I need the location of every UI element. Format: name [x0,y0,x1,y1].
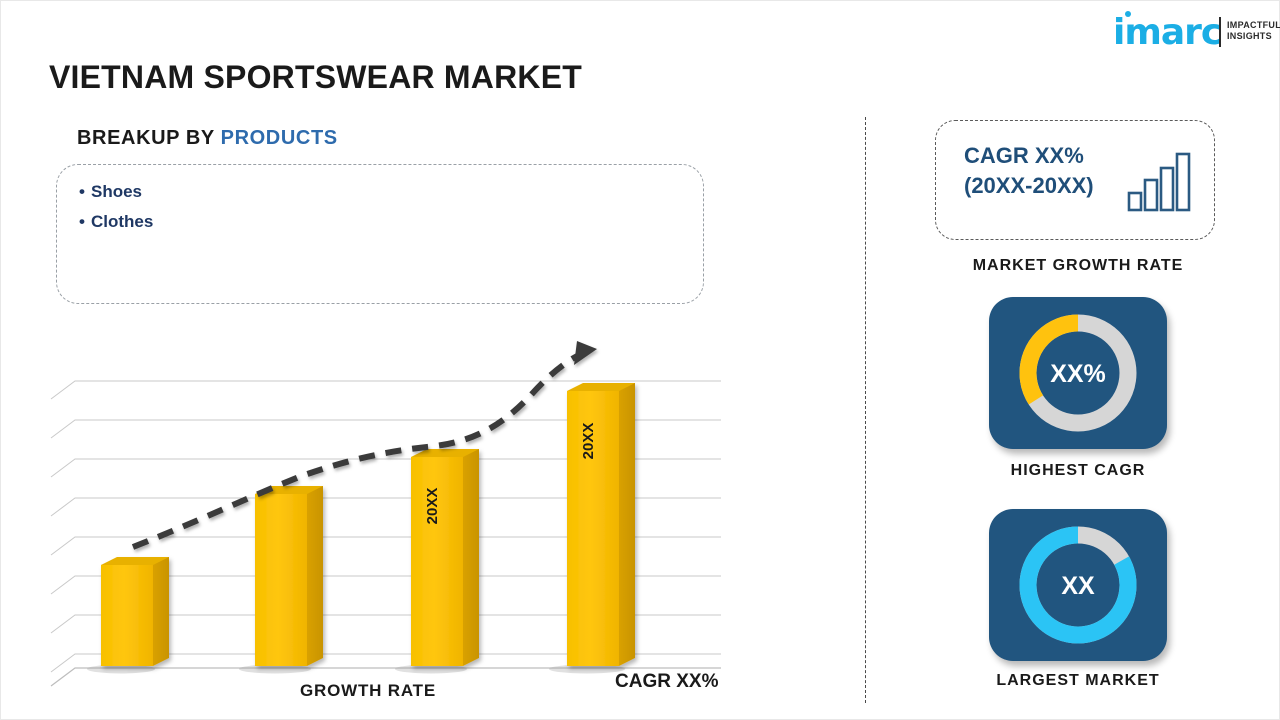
chart-canvas: 20XX 20XX [49,331,769,711]
highest-cagr-value: XX% [1050,360,1106,388]
bar-chart-icon [1127,151,1195,213]
logo-divider [1219,17,1221,47]
logo-tagline-line1: IMPACTFUL [1227,20,1280,31]
market-growth-rate-value: CAGR XX% (20XX-20XX) [964,141,1094,201]
highest-cagr-caption: HIGHEST CAGR [933,462,1223,480]
page-title: VIETNAM SPORTSWEAR MARKET [49,59,582,96]
growth-rate-bar-chart: 20XX 20XX CAGR XX% [49,331,769,711]
breakup-list: •Shoes •Clothes [79,177,153,237]
subtitle-prefix: BREAKUP BY [77,127,221,149]
vertical-divider [865,117,866,703]
cagr-line-1: CAGR XX% [964,141,1094,171]
logo-tagline-line2: INSIGHTS [1227,31,1280,42]
highest-cagr-tile: XX% [989,297,1167,449]
largest-market-tile: XX [989,509,1167,661]
bullet-icon: • [79,177,91,207]
infographic-page: imarc IMPACTFUL INSIGHTS VIETNAM SPORTSW… [1,1,1279,719]
chart-cagr-annotation: CAGR XX% [615,671,718,693]
bar-3-label: 20XX [424,488,441,525]
logo-wordmark: imarc [1113,15,1221,51]
largest-market-donut: XX [989,509,1167,661]
bar-4 [567,383,635,666]
subtitle-accent: PRODUCTS [221,127,338,149]
bullet-icon: • [79,207,91,237]
logo-tagline: IMPACTFUL INSIGHTS [1227,20,1280,42]
list-item: •Shoes [79,177,153,207]
imarc-logo: imarc IMPACTFUL INSIGHTS [1113,9,1269,55]
bar-1 [101,557,169,666]
bar-ground-shadows [87,665,625,674]
chart-x-axis-label: GROWTH RATE [300,681,436,701]
largest-market-caption: LARGEST MARKET [933,672,1223,690]
bar-3 [411,449,479,666]
cagr-line-2: (20XX-20XX) [964,171,1094,201]
breakup-products-box: •Shoes •Clothes [56,164,704,304]
list-item-label: Shoes [91,182,142,201]
market-growth-rate-caption: MARKET GROWTH RATE [933,257,1223,275]
section-subtitle: BREAKUP BY PRODUCTS [77,127,338,150]
bar-2 [255,486,323,666]
trend-line [133,341,597,547]
bar-4-label: 20XX [580,423,597,460]
largest-market-value: XX [1061,572,1095,600]
highest-cagr-donut: XX% [989,297,1167,449]
list-item: •Clothes [79,207,153,237]
list-item-label: Clothes [91,212,153,231]
